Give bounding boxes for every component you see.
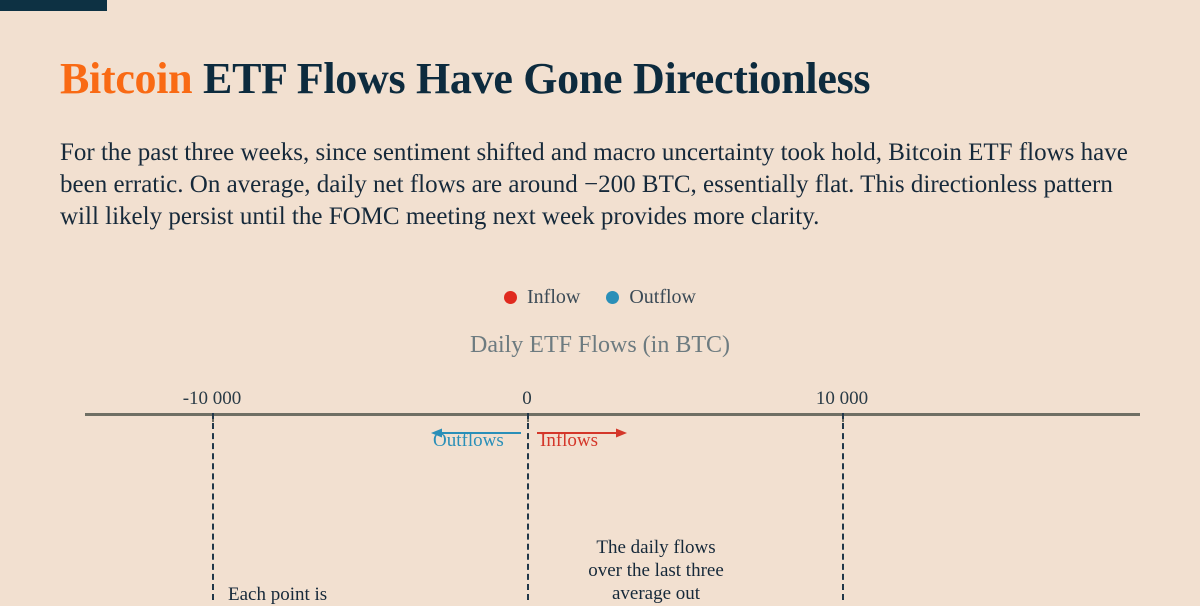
tick-label-pos10000: 10 000 bbox=[816, 388, 868, 410]
gridline-pos10000 bbox=[842, 413, 844, 600]
gridline-zero bbox=[527, 413, 529, 600]
annotation-center: The daily flows over the last three aver… bbox=[577, 536, 735, 606]
chart-plot-area: -10 000 0 10 000 Outflows Inflows The da… bbox=[0, 0, 1200, 600]
x-axis-line bbox=[85, 413, 1140, 416]
annotation-left-line-1: Each point is bbox=[228, 583, 418, 606]
outflows-label: Outflows bbox=[433, 430, 504, 452]
inflows-label: Inflows bbox=[540, 430, 598, 452]
tick-label-zero: 0 bbox=[522, 388, 532, 410]
gridline-neg10000 bbox=[212, 413, 214, 600]
tick-label-neg10000: -10 000 bbox=[183, 388, 242, 410]
annotation-left: Each point is bbox=[228, 583, 418, 606]
annotation-center-line-3: average out bbox=[577, 582, 735, 605]
annotation-center-line-1: The daily flows bbox=[577, 536, 735, 559]
annotation-center-line-2: over the last three bbox=[577, 559, 735, 582]
